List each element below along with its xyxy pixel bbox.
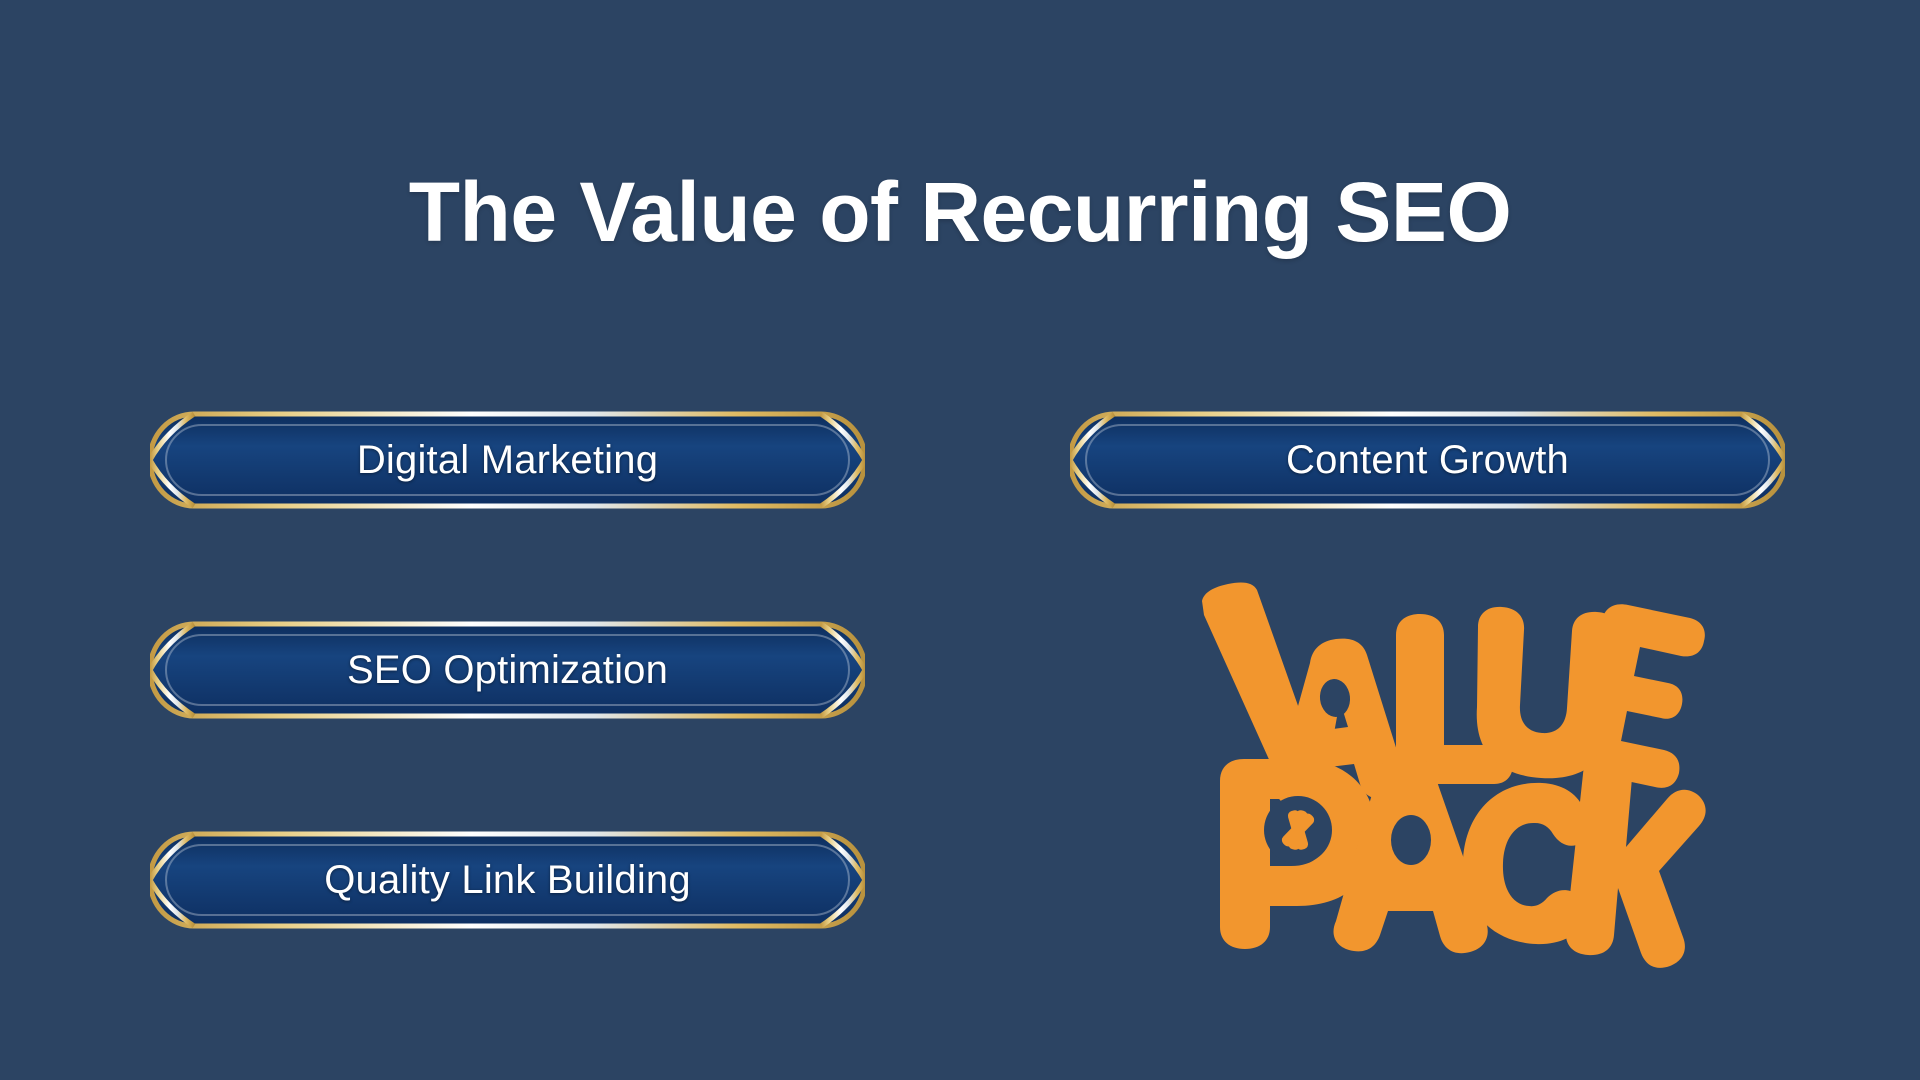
banner-slot: Content Growth	[1070, 410, 1785, 510]
value-pack-logo	[1190, 545, 1700, 955]
banner-slot: SEO Optimization	[150, 620, 865, 720]
banner-label: Quality Link Building	[324, 858, 691, 903]
banner-content-growth[interactable]: Content Growth	[1070, 410, 1785, 510]
banner-quality-link-building[interactable]: Quality Link Building	[150, 830, 865, 930]
banner-slot: Digital Marketing	[150, 410, 865, 510]
value-pack-logo-icon	[1190, 545, 1700, 955]
banner-digital-marketing[interactable]: Digital Marketing	[150, 410, 865, 510]
banner-seo-optimization[interactable]: SEO Optimization	[150, 620, 865, 720]
banner-label: Digital Marketing	[357, 438, 658, 483]
banner-column-left: Digital Marketing	[150, 410, 865, 1040]
banner-label: Content Growth	[1286, 438, 1569, 483]
banner-slot: Quality Link Building	[150, 830, 865, 930]
page-title: The Value of Recurring SEO	[0, 168, 1920, 256]
slide-canvas: The Value of Recurring SEO	[0, 0, 1920, 1080]
banner-label: SEO Optimization	[347, 648, 668, 693]
